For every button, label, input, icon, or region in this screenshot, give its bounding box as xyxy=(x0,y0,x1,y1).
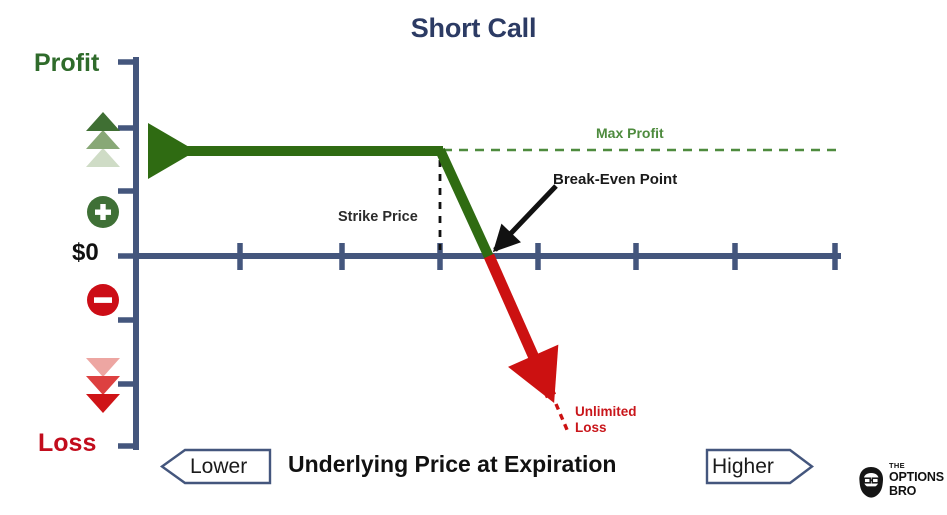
triple-up-arrow-icon xyxy=(86,112,120,167)
chart-canvas: Short Call Profit $0 Loss Max Profit Str… xyxy=(0,0,947,515)
higher-direction-label: Higher xyxy=(712,456,774,478)
y-axis-label-loss: Loss xyxy=(38,430,96,456)
unlimited-loss-label: Unlimited Loss xyxy=(575,404,637,436)
max-profit-label: Max Profit xyxy=(596,126,664,141)
x-axis-title: Underlying Price at Expiration xyxy=(288,452,616,476)
unlimited-loss-line-1: Unlimited xyxy=(575,404,637,419)
brand-line-2: OPTIONS xyxy=(889,471,944,484)
page-title: Short Call xyxy=(0,14,947,42)
payoff-decline-red-arrow xyxy=(489,256,551,396)
brand-line-1: THE xyxy=(889,462,905,470)
plus-circle-icon xyxy=(87,196,119,228)
break-even-callout-arrow xyxy=(495,186,556,250)
lower-direction-label: Lower xyxy=(190,456,247,478)
payoff-decline-green xyxy=(440,150,489,257)
strike-price-label: Strike Price xyxy=(338,210,418,225)
payoff-diagram xyxy=(0,0,947,515)
break-even-point-label: Break-Even Point xyxy=(553,172,677,188)
brand-logo[interactable]: THE OPTIONS BRO xyxy=(856,462,940,502)
unlimited-loss-continuation xyxy=(556,404,568,432)
unlimited-loss-line-2: Loss xyxy=(575,420,607,435)
y-axis-label-profit: Profit xyxy=(34,50,99,76)
y-axis-label-zero: $0 xyxy=(72,240,99,265)
brand-line-3: BRO xyxy=(889,485,916,498)
triple-down-arrow-icon xyxy=(86,358,120,413)
minus-circle-icon xyxy=(87,284,119,316)
